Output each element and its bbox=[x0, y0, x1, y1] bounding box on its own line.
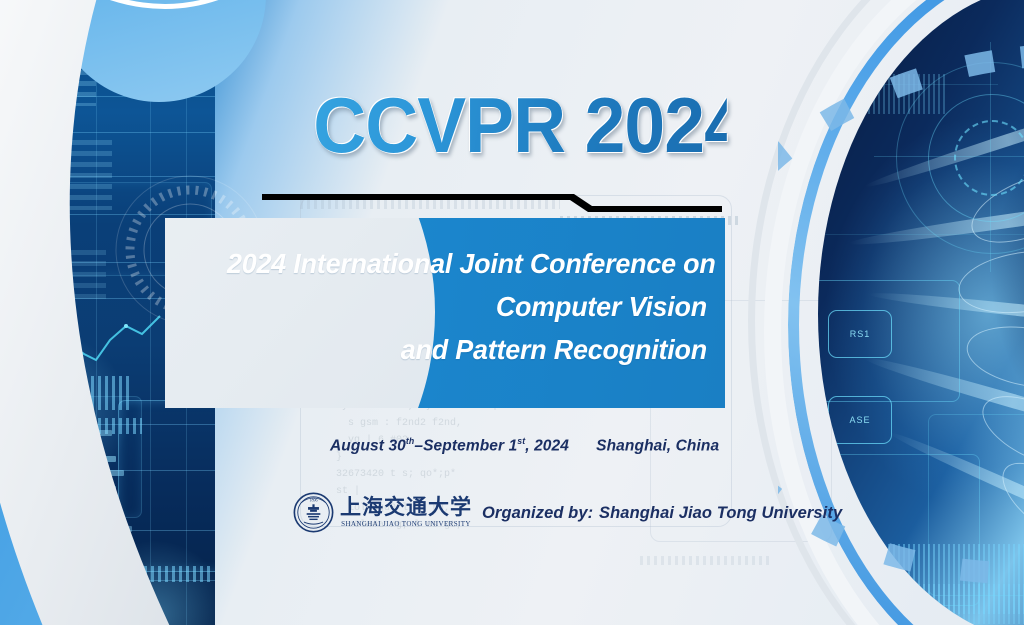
date-year: , 2024 bbox=[525, 437, 569, 454]
page-title: CCVPR 2024 bbox=[313, 86, 727, 164]
subtitle-line-3: and Pattern Recognition bbox=[227, 328, 707, 371]
university-seal-icon: 1896 bbox=[293, 492, 334, 533]
title-rule bbox=[262, 192, 722, 214]
subtitle-line-2: Computer Vision bbox=[227, 285, 707, 328]
subtitle-block: 2024 International Joint Conference on C… bbox=[165, 218, 725, 408]
conference-banner: XYZ 64% dbcap you : serial gyt; } 326734… bbox=[0, 0, 1024, 625]
subtitle-text: 2024 International Joint Conference on C… bbox=[227, 242, 707, 371]
organizer-line: 1896 上海交通大学 SHANGHAI JIAO TONG UNIVERSIT… bbox=[293, 492, 853, 533]
sjtu-wordmark: 上海交通大学 SHANGHAI JIAO TONG UNIVERSITY bbox=[340, 497, 472, 528]
date-month-end: September 1 bbox=[423, 437, 517, 454]
date-start-suffix: th bbox=[406, 436, 414, 446]
sjtu-logo: 1896 上海交通大学 SHANGHAI JIAO TONG UNIVERSIT… bbox=[293, 492, 472, 533]
organizer-text: Organized by:Shanghai Jiao Tong Universi… bbox=[482, 503, 842, 523]
location-text: Shanghai, China bbox=[596, 437, 719, 454]
organizer-label: Organized by: bbox=[482, 503, 593, 522]
date-month-start: August 30 bbox=[330, 437, 406, 454]
sjtu-name-en: SHANGHAI JIAO TONG UNIVERSITY bbox=[340, 521, 472, 528]
subtitle-line-1: 2024 International Joint Conference on bbox=[227, 242, 707, 285]
date-dash: – bbox=[414, 437, 423, 454]
organizer-name: Shanghai Jiao Tong University bbox=[599, 503, 842, 522]
date-location-line: August 30th–September 1st, 2024Shanghai,… bbox=[330, 436, 737, 455]
sjtu-name-cn: 上海交通大学 bbox=[340, 497, 472, 518]
svg-text:1896: 1896 bbox=[309, 498, 317, 503]
